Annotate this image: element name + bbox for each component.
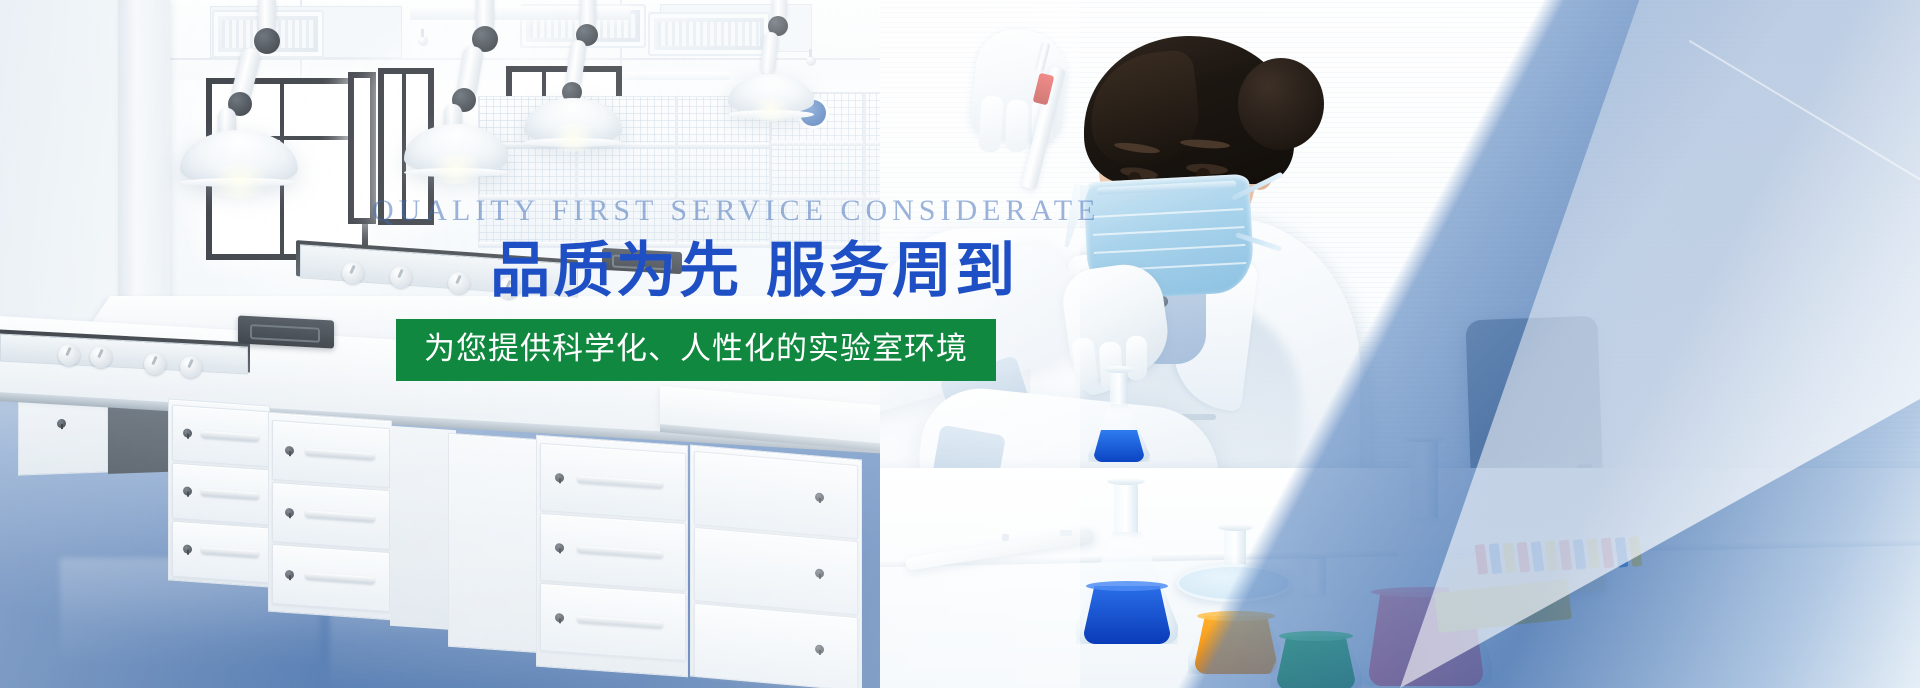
bench-service-knob[interactable] (342, 262, 364, 284)
glove-finger (1126, 336, 1147, 380)
headline-chinese: 品质为先 服务周到 (370, 240, 1070, 303)
hero-banner: QUALITY FIRST SERVICE CONSIDERATE 品质为先 服… (0, 0, 1920, 688)
pendant-lamp (520, 0, 670, 150)
island-drawer[interactable] (172, 405, 270, 468)
island-side-panel (448, 433, 542, 654)
island-drawer[interactable] (694, 527, 858, 615)
glove-finger (1005, 100, 1029, 153)
island-drawer[interactable] (272, 544, 390, 612)
bench-service-knob[interactable] (58, 344, 80, 366)
island-drawer[interactable] (540, 443, 686, 521)
island-drawer[interactable] (272, 482, 390, 550)
flask-blue-liquid (1094, 430, 1144, 462)
pendant-lamp (196, 0, 346, 180)
petri-dish (1176, 564, 1292, 602)
desk-debris (1060, 530, 1072, 536)
desk-debris (1002, 534, 1009, 541)
flask-orange-liquid (1195, 616, 1277, 674)
bench-instrument-tray (238, 315, 334, 348)
subtitle-chinese: 为您提供科学化、人性化的实验室环境 (424, 331, 968, 367)
island-bench-skirt (390, 426, 456, 631)
island-drawer[interactable] (272, 420, 390, 488)
hair-bun (1238, 58, 1324, 150)
bench-service-knob[interactable] (90, 346, 112, 368)
flask-blue-liquid (1084, 586, 1170, 644)
structural-pillar (118, 0, 170, 300)
subtitle-green-banner: 为您提供科学化、人性化的实验室环境 (396, 319, 996, 381)
island-drawer[interactable] (540, 583, 686, 661)
island-drawer[interactable] (172, 463, 270, 526)
bench-service-knob[interactable] (144, 353, 166, 375)
pendant-lamp (718, 0, 858, 130)
glove-finger (978, 95, 1004, 152)
island-drawer[interactable] (540, 513, 686, 591)
island-drawer[interactable] (172, 521, 270, 584)
banner-text-block: QUALITY FIRST SERVICE CONSIDERATE 品质为先 服… (370, 196, 1070, 381)
bench-service-knob[interactable] (180, 356, 202, 378)
island-drawer[interactable] (694, 603, 858, 688)
english-tagline: QUALITY FIRST SERVICE CONSIDERATE (372, 196, 1070, 226)
island-drawer[interactable] (694, 451, 858, 539)
flask-green-liquid (1277, 636, 1355, 688)
